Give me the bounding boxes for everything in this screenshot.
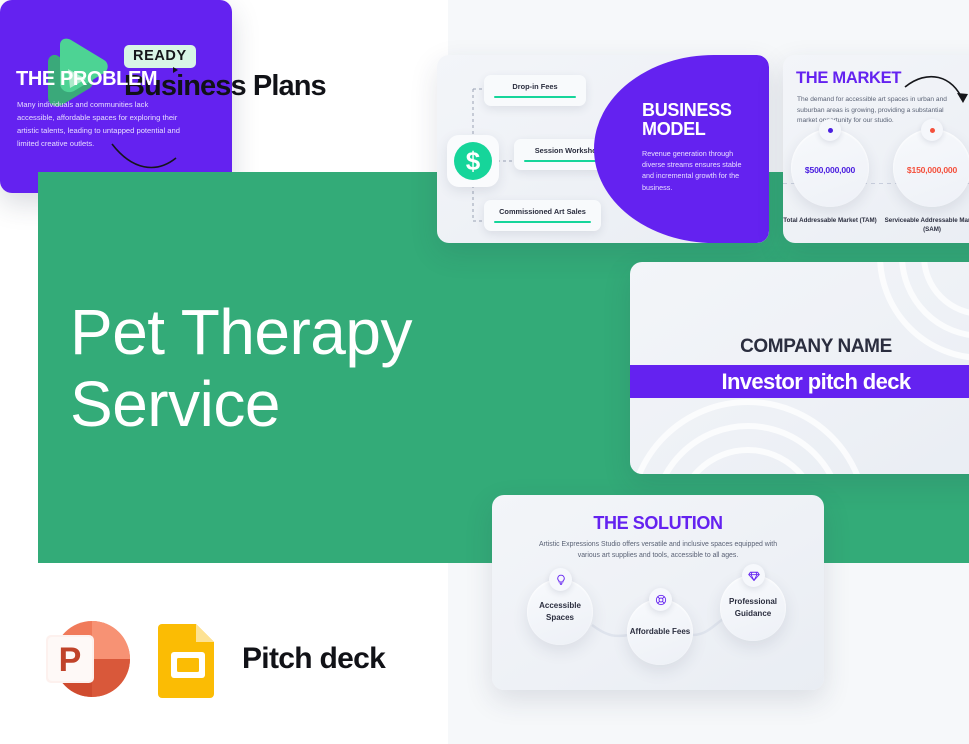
page-title: Pet Therapy Service [70,297,412,440]
market-metric-caption: Total Addressable Market (TAM) [783,217,882,226]
slide-business-model[interactable]: $ Drop-in Fees Session Workshops Commiss… [437,55,769,243]
brand-triangle-accent-icon [173,67,178,73]
solution-item-label: Professional Guidance [720,596,786,619]
ready-badge: READY [124,45,196,68]
circle-target-icon [649,588,672,611]
lightbulb-icon [549,568,572,591]
market-metric-circle[interactable]: $500,000,000 [791,129,869,207]
metric-dot-badge [819,119,841,141]
market-metrics: $500,000,000 $150,000,000 Total Addressa… [783,129,969,243]
page-title-line-2: Service [70,369,412,441]
google-slides-icon [156,620,220,698]
company-name-subtitle: Investor pitch deck [721,369,910,395]
business-model-description: Revenue generation through diverse strea… [642,148,755,193]
slide-the-solution[interactable]: THE SOLUTION Artistic Expressions Studio… [492,495,824,690]
dollar-sign-icon: $ [454,142,492,180]
problem-title: THE PROBLEM [16,68,157,91]
metric-dot-icon [828,128,833,133]
company-name-band: Investor pitch deck [630,365,969,398]
metric-dot-badge [921,119,943,141]
market-title: THE MARKET [796,69,901,88]
business-model-item[interactable]: Commissioned Art Sales [484,200,601,231]
curved-arrow-icon [901,65,969,115]
underline-accent [494,221,591,223]
metric-dot-icon [930,128,935,133]
market-metric-caption: Serviceable Addressable Market (SAM) [880,217,969,235]
market-metric-circle[interactable]: $150,000,000 [893,129,969,207]
curved-arrow-icon [110,140,180,180]
market-metric-value: $500,000,000 [791,165,869,175]
business-model-title: BUSINESS MODEL [642,101,755,139]
powerpoint-icon: P [40,617,134,701]
slide-the-market[interactable]: THE MARKET The demand for accessible art… [783,55,969,243]
format-row: P Pitch deck [40,617,385,701]
diamond-icon [742,564,765,587]
company-name-label: COMPANY NAME [630,336,969,358]
format-label: Pitch deck [242,642,385,676]
market-metric-value: $150,000,000 [893,165,969,175]
underline-accent [494,96,576,98]
business-model-icon-box: $ [447,135,499,187]
business-model-item-label: Drop-in Fees [494,82,576,91]
page-title-line-1: Pet Therapy [70,297,412,369]
business-model-item-label: Commissioned Art Sales [494,207,591,216]
svg-text:P: P [59,641,82,679]
solution-item-label: Affordable Fees [630,626,690,638]
solution-item-label: Accessible Spaces [527,600,593,623]
slide-company-name[interactable]: COMPANY NAME Investor pitch deck [630,262,969,474]
promo-canvas: READY Business Plans Pet Therapy Service… [0,0,969,744]
business-model-item[interactable]: Drop-in Fees [484,75,586,106]
